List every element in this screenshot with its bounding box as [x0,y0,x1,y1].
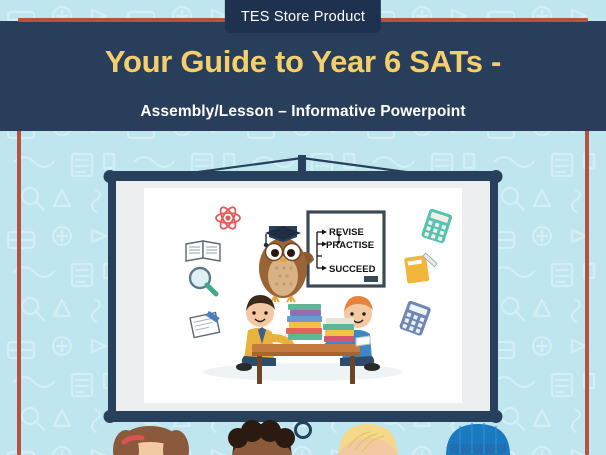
head-dark-afro [228,420,295,455]
whiteboard-line-succeed: SUCCEED [329,264,376,275]
open-book-on-desk [356,336,370,346]
open-book-icon [186,241,220,261]
head-blue-beanie [446,423,510,455]
store-product-badge: TES Store Product [225,0,381,33]
projector-screen-illustration: REVISE PRACTISE SUCCEED [0,0,606,455]
whiteboard-line-practise: PRACTISE [326,240,374,251]
whiteboard-line-revise: REVISE [329,227,364,238]
audience-heads [0,418,606,455]
screen-post-right [490,176,498,416]
head-brown-hair-headband [113,426,189,455]
screen-post-left [108,176,116,416]
head-blonde [338,424,398,455]
